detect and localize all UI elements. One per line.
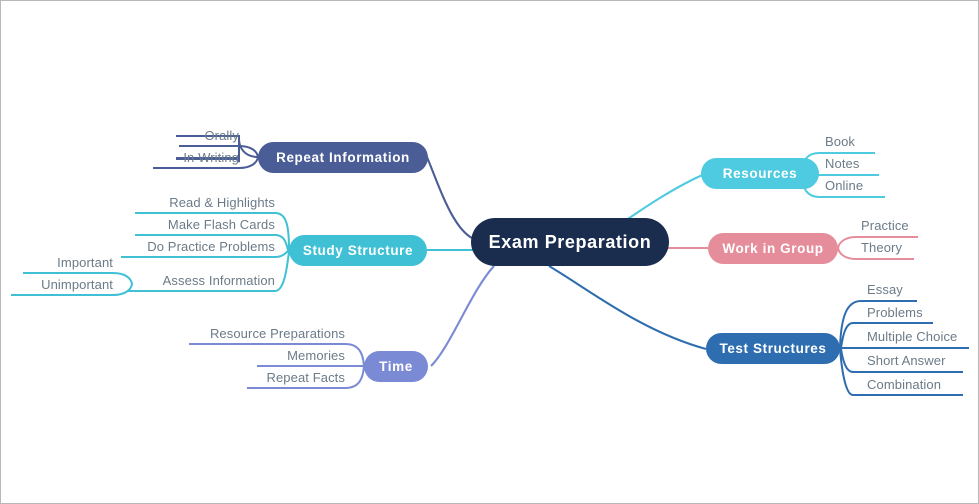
leaf-short-answer[interactable]: Short Answer — [867, 353, 979, 369]
leaf-label: Theory — [861, 240, 902, 255]
leaf-important[interactable]: Important — [3, 255, 113, 271]
leaf-label: Read & Highlights — [169, 195, 275, 210]
branch-node-test-structures[interactable]: Test Structures — [706, 333, 840, 364]
branch-label: Time — [379, 359, 413, 374]
leaf-label: Do Practice Problems — [147, 239, 275, 254]
branch-label: Repeat Information — [276, 150, 410, 165]
edge-test-structures-spine — [839, 301, 861, 395]
leaf-memories[interactable]: Memories — [175, 348, 345, 364]
leaf-label: Practice — [861, 218, 909, 233]
leaf-label: Assess Information — [163, 273, 275, 288]
leaf-multiple-choice[interactable]: Multiple Choice — [867, 329, 979, 345]
branch-label: Resources — [723, 166, 797, 181]
leaf-label: Memories — [287, 348, 345, 363]
mindmap-canvas: Exam Preparation Repeat Information Oral… — [0, 0, 979, 504]
edge-time-spine — [345, 344, 364, 388]
leaf-practice[interactable]: Practice — [861, 218, 979, 234]
branch-node-work-in-group[interactable]: Work in Group — [708, 233, 838, 264]
leaf-essay[interactable]: Essay — [867, 282, 979, 298]
edge-work-in-group-spine — [838, 237, 856, 259]
leaf-assess-information[interactable]: Assess Information — [105, 273, 275, 289]
leaf-do-practice-problems[interactable]: Do Practice Problems — [105, 239, 275, 255]
leaf-label: In Writing — [183, 150, 239, 165]
leaf-label: Book — [825, 134, 855, 149]
edge-center-repeat-information — [427, 157, 481, 241]
leaf-theory[interactable]: Theory — [861, 240, 979, 256]
edge-repeat-curve — [239, 146, 258, 168]
leaf-label: Orally — [204, 128, 239, 143]
leaf-notes[interactable]: Notes — [825, 156, 945, 172]
branch-label: Study Structure — [303, 243, 413, 258]
branch-node-study-structure[interactable]: Study Structure — [289, 235, 427, 266]
branch-node-repeat-information[interactable]: Repeat Information — [258, 142, 428, 173]
leaf-label: Repeat Facts — [266, 370, 345, 385]
leaf-in-writing[interactable]: In Writing — [119, 150, 239, 166]
leaf-label: Make Flash Cards — [168, 217, 275, 232]
leaf-label: Important — [57, 255, 113, 270]
leaf-book[interactable]: Book — [825, 134, 945, 150]
branch-label: Test Structures — [719, 341, 826, 356]
leaf-unimportant[interactable]: Unimportant — [3, 277, 113, 293]
leaf-make-flash-cards[interactable]: Make Flash Cards — [105, 217, 275, 233]
leaf-label: Essay — [867, 282, 903, 297]
leaf-label: Multiple Choice — [867, 329, 957, 344]
branch-node-resources[interactable]: Resources — [701, 158, 819, 189]
leaf-label: Problems — [867, 305, 923, 320]
leaf-label: Notes — [825, 156, 859, 171]
edge-center-test-structures — [549, 266, 706, 349]
leaf-label: Unimportant — [41, 277, 113, 292]
center-node-label: Exam Preparation — [489, 232, 652, 253]
leaf-online[interactable]: Online — [825, 178, 945, 194]
branch-node-time[interactable]: Time — [364, 351, 428, 382]
leaf-resource-preparations[interactable]: Resource Preparations — [175, 326, 345, 342]
leaf-problems[interactable]: Problems — [867, 305, 979, 321]
leaf-read-highlights[interactable]: Read & Highlights — [105, 195, 275, 211]
leaf-repeat-facts[interactable]: Repeat Facts — [175, 370, 345, 386]
leaf-label: Online — [825, 178, 863, 193]
leaf-combination[interactable]: Combination — [867, 377, 979, 393]
edge-study-structure-spine — [275, 213, 289, 291]
leaf-label: Combination — [867, 377, 941, 392]
center-node[interactable]: Exam Preparation — [471, 218, 669, 266]
branch-label: Work in Group — [722, 241, 823, 256]
edge-center-time — [431, 266, 494, 366]
leaf-label: Resource Preparations — [210, 326, 345, 341]
leaf-label: Short Answer — [867, 353, 946, 368]
leaf-orally[interactable]: Orally — [119, 128, 239, 144]
